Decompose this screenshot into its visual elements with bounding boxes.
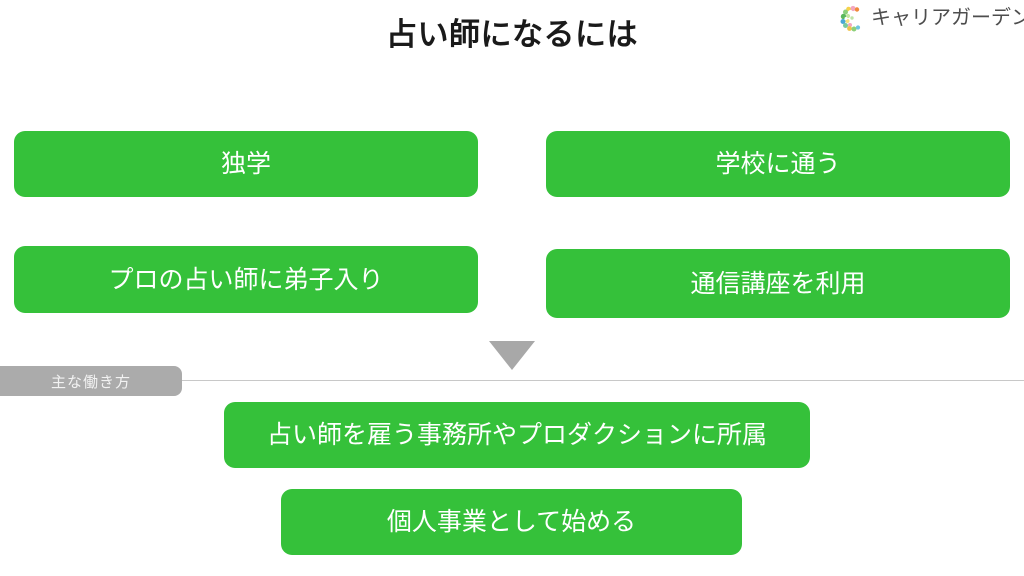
route-box-self-study[interactable]: 独学 [14, 131, 478, 197]
work-style-box-sole-proprietor[interactable]: 個人事業として始める [281, 489, 742, 555]
section-tag-label: 主な働き方 [51, 371, 131, 392]
section-tag-work-styles: 主な働き方 [0, 366, 182, 396]
slide-canvas: 占い師になるには キャリアガーデン [0, 0, 1024, 576]
route-box-correspondence-course[interactable]: 通信講座を利用 [546, 249, 1010, 318]
brand-name: キャリアガーデン [871, 5, 1024, 32]
route-box-label: 通信講座を利用 [690, 269, 865, 299]
career-garden-c-logo-icon [840, 5, 867, 32]
work-style-box-label: 個人事業として始める [387, 507, 636, 537]
route-box-apprenticeship[interactable]: プロの占い師に弟子入り [14, 246, 478, 313]
brand-logo: キャリアガーデン [840, 2, 1024, 34]
route-box-label: 学校に通う [715, 149, 840, 179]
triangle-down-icon [489, 341, 535, 370]
route-box-label: 独学 [221, 149, 271, 179]
section-divider-line [180, 380, 1024, 381]
work-style-box-agency[interactable]: 占い師を雇う事務所やプロダクションに所属 [224, 402, 810, 468]
route-box-attend-school[interactable]: 学校に通う [546, 131, 1010, 197]
route-box-label: プロの占い師に弟子入り [108, 265, 383, 295]
work-style-box-label: 占い師を雇う事務所やプロダクションに所属 [267, 420, 767, 450]
